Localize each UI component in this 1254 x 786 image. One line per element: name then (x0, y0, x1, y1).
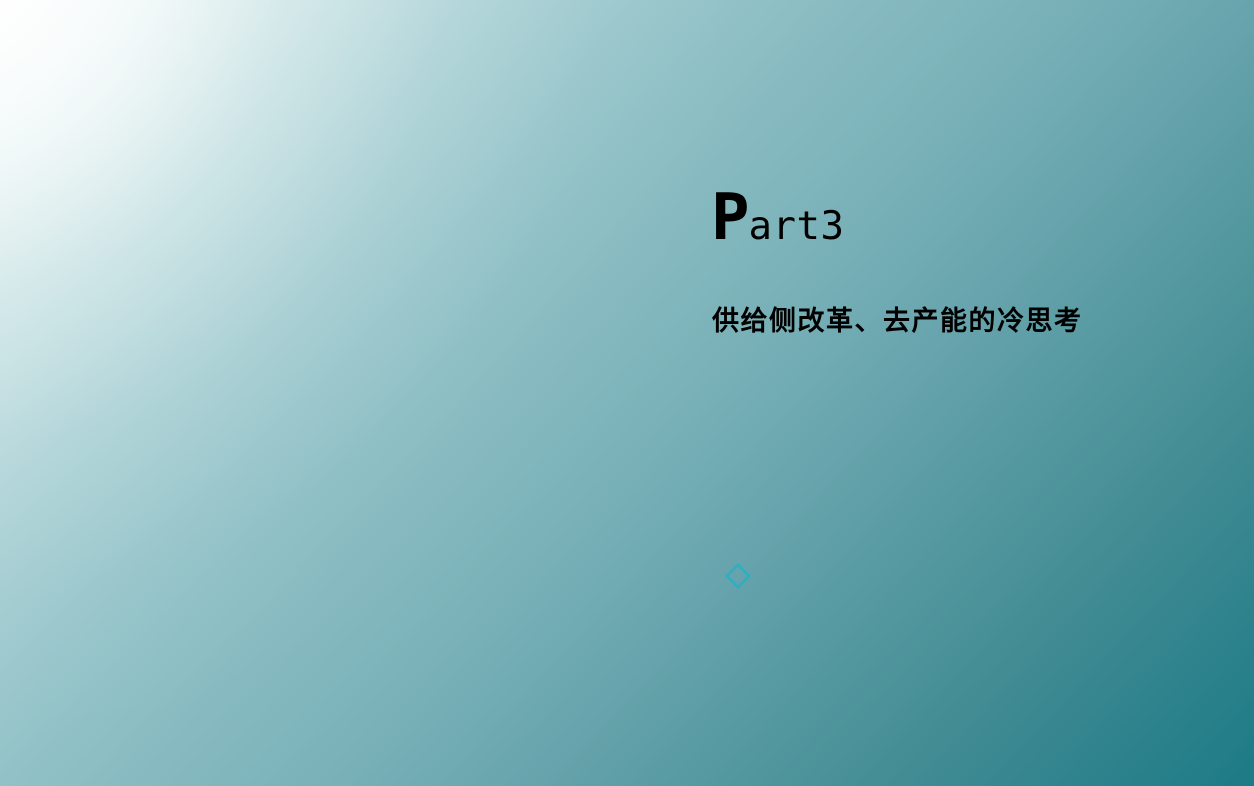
page-subtitle: 供给侧改革、去产能的冷思考 (712, 299, 1083, 338)
page-title-remainder: art3 (749, 204, 845, 249)
page-title: Part3 (711, 186, 1181, 250)
diamond-outline-icon (722, 560, 754, 592)
title-block: Part3 供给侧改革、去产能的冷思考 (711, 186, 1181, 250)
page-title-lead-letter: P (711, 181, 749, 255)
presentation-slide: Part3 供给侧改革、去产能的冷思考 (0, 0, 1254, 786)
diamond-outline-shape (722, 560, 754, 592)
